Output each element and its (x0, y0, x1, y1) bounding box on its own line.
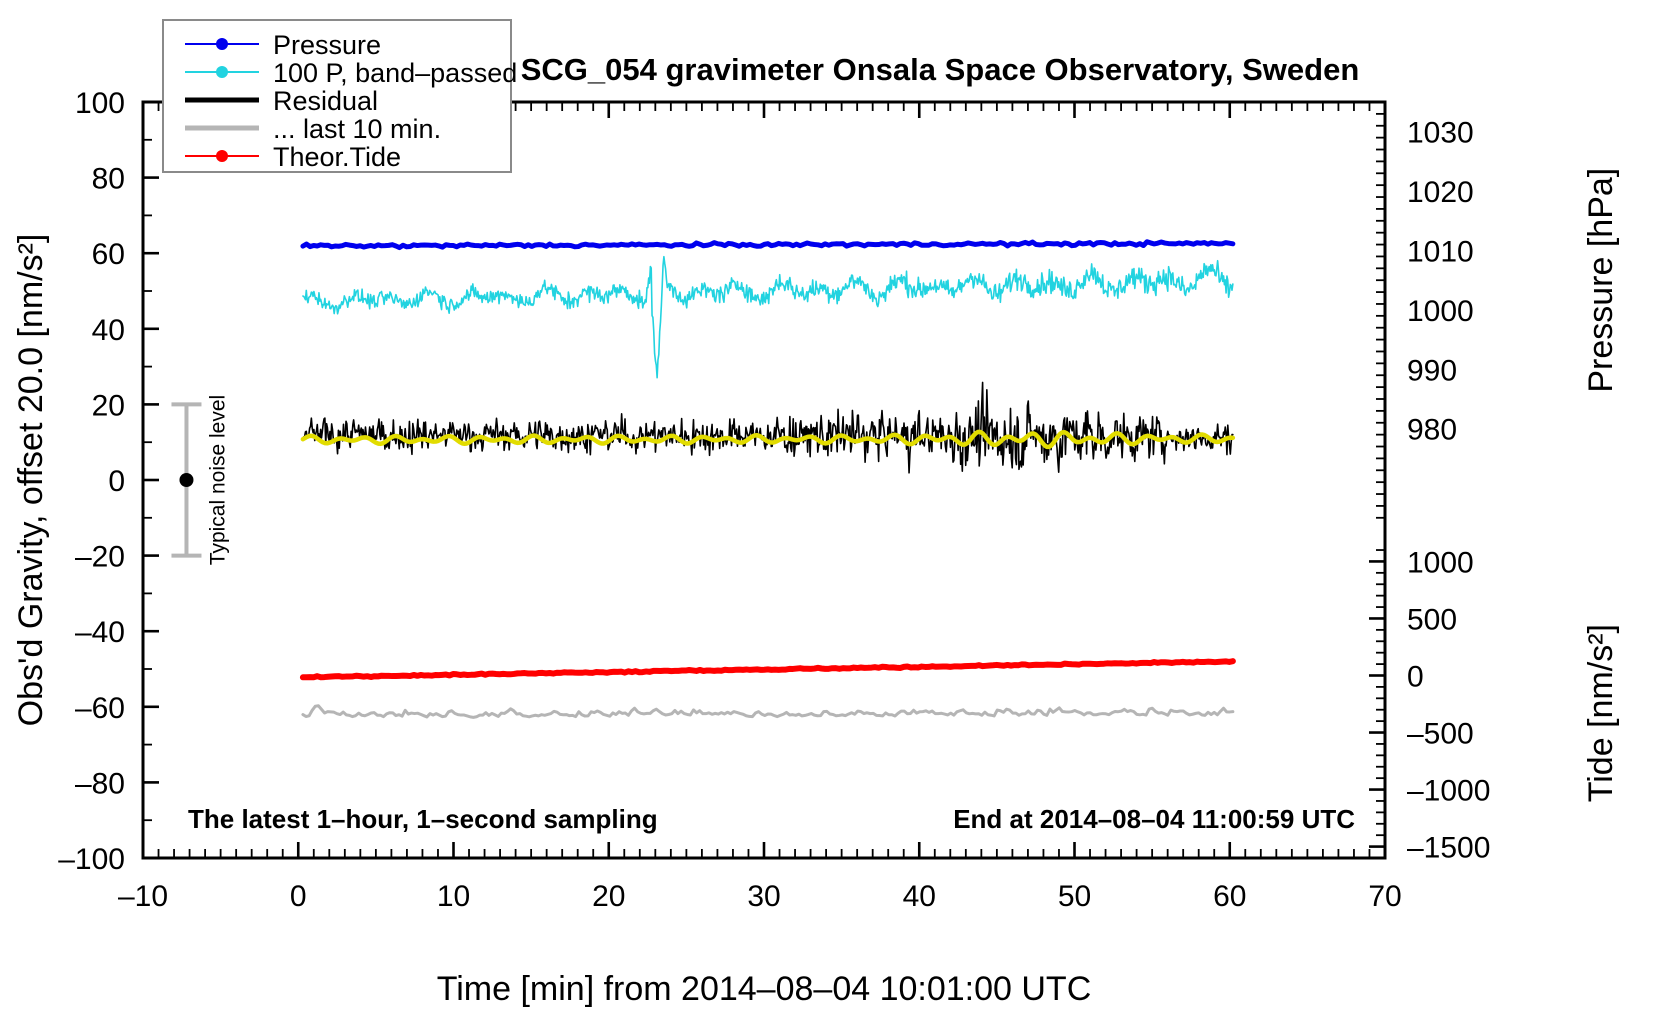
typical-noise-level-annotation: Typical noise level (171, 395, 229, 565)
x-tick-label: –10 (118, 880, 168, 913)
trace-gray (303, 706, 1233, 718)
plot-frame (143, 102, 1385, 858)
sampling-note: The latest 1–hour, 1–second sampling (188, 804, 658, 834)
tide-tick-label: 0 (1407, 660, 1424, 693)
x-tick-label: 10 (437, 880, 470, 913)
trace-tide (303, 661, 1233, 677)
pressure-tick-label: 1000 (1407, 295, 1474, 328)
x-tick-label: 30 (747, 880, 780, 913)
y-tick-label: –80 (75, 767, 125, 800)
plot-layer: –10010203040506070Time [min] from 2014–0… (12, 20, 1620, 1008)
gravimeter-timeseries-chart: –10010203040506070Time [min] from 2014–0… (0, 0, 1660, 1020)
legend-label: 100 P, band–passed (273, 58, 517, 88)
data-traces (303, 242, 1233, 718)
chart-page: –10010203040506070Time [min] from 2014–0… (0, 0, 1660, 1020)
y-tick-label: 80 (92, 163, 125, 196)
x-axis: –10010203040506070Time [min] from 2014–0… (118, 102, 1402, 1008)
trace-thick-flat (303, 242, 1233, 248)
y-axis-right-pressure: 1030102010101000990980Pressure [hPa] (1376, 102, 1620, 518)
y-tick-label: 0 (108, 465, 125, 498)
legend-marker (216, 38, 228, 50)
y-tick-label: 60 (92, 238, 125, 271)
tide-tick-label: –1500 (1407, 832, 1490, 865)
y-axis-title: Obs'd Gravity, offset 20.0 [nm/s²] (12, 234, 50, 727)
x-tick-label: 40 (903, 880, 936, 913)
noise-center-dot (179, 473, 193, 487)
pressure-tick-label: 990 (1407, 354, 1457, 387)
trace-residual (303, 382, 1233, 472)
x-tick-label: 50 (1058, 880, 1091, 913)
y-tick-label: 20 (92, 389, 125, 422)
y-tick-label: –100 (58, 843, 125, 876)
x-tick-label: 0 (290, 880, 307, 913)
legend-label: Residual (273, 86, 378, 116)
pressure-axis-title: Pressure [hPa] (1582, 168, 1620, 393)
x-tick-label: 70 (1368, 880, 1401, 913)
plot-annotations: The latest 1–hour, 1–second samplingEnd … (188, 804, 1355, 834)
legend[interactable]: Pressure100 P, band–passedResidual... la… (163, 20, 517, 172)
legend-label: Pressure (273, 30, 381, 60)
y-tick-label: –60 (75, 692, 125, 725)
trace-bandpass (303, 257, 1233, 378)
legend-label: ... last 10 min. (273, 114, 441, 144)
y-tick-label: –20 (75, 541, 125, 574)
legend-label: Theor.Tide (273, 142, 401, 172)
pressure-tick-label: 1010 (1407, 236, 1474, 269)
y-tick-label: 100 (75, 87, 125, 120)
tide-tick-label: –500 (1407, 718, 1474, 751)
chart-title: SCG_054 gravimeter Onsala Space Observat… (521, 52, 1360, 87)
x-tick-label: 60 (1213, 880, 1246, 913)
pressure-tick-label: 1030 (1407, 117, 1474, 150)
y-tick-label: –40 (75, 616, 125, 649)
pressure-tick-label: 1020 (1407, 176, 1474, 209)
noise-level-label: Typical noise level (206, 395, 229, 565)
y-axis-left: –100–80–60–40–20020406080100Obs'd Gravit… (12, 87, 159, 876)
y-tick-label: 40 (92, 314, 125, 347)
y-axis-right-tide: 10005000–500–1000–1500Tide [nm/s²] (1369, 546, 1620, 864)
tide-tick-label: –1000 (1407, 775, 1490, 808)
legend-marker (216, 66, 228, 78)
pressure-tick-label: 980 (1407, 414, 1457, 447)
tide-tick-label: 1000 (1407, 546, 1474, 579)
legend-marker (216, 150, 228, 162)
x-tick-label: 20 (592, 880, 625, 913)
end-time-note: End at 2014–08–04 11:00:59 UTC (953, 804, 1355, 834)
tide-axis-title: Tide [nm/s²] (1582, 624, 1620, 802)
x-axis-title: Time [min] from 2014–08–04 10:01:00 UTC (437, 970, 1092, 1008)
tide-tick-label: 500 (1407, 603, 1457, 636)
